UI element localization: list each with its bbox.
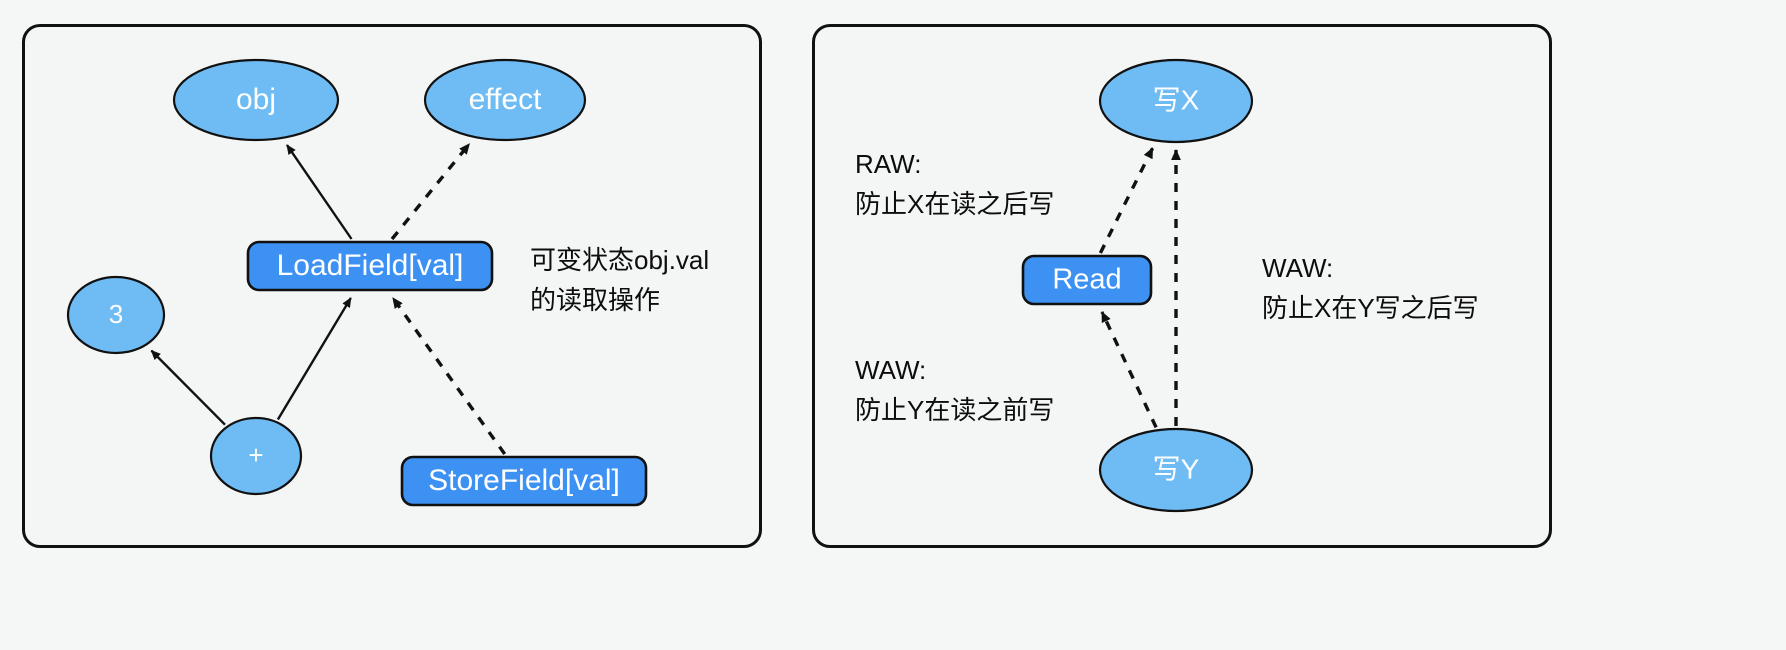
annotation-line: 防止X在Y写之后写: [1262, 288, 1479, 328]
annotation-line: 防止X在读之后写: [855, 184, 1054, 224]
annotation-raw-hazard: RAW:防止X在读之后写: [855, 144, 1054, 224]
node-label-read: Read: [1052, 264, 1121, 296]
node-label-effect: effect: [469, 83, 542, 116]
annotation-line: 可变状态obj.val: [530, 240, 709, 280]
node-label-plus: +: [248, 440, 263, 470]
node-label-storefield: StoreField[val]: [428, 464, 620, 497]
annotation-line: WAW:: [855, 350, 1054, 390]
node-loadfield[interactable]: LoadField[val]: [248, 242, 492, 290]
node-write-y[interactable]: 写Y: [1100, 429, 1252, 511]
node-write-x[interactable]: 写X: [1100, 60, 1252, 142]
diagram-canvas: objeffectLoadField[val]3+StoreField[val]…: [0, 0, 1786, 650]
node-label-obj: obj: [236, 83, 276, 116]
node-label-write-y: 写Y: [1153, 453, 1200, 484]
node-plus[interactable]: +: [211, 418, 301, 494]
node-storefield[interactable]: StoreField[val]: [402, 457, 646, 505]
node-label-loadfield: LoadField[val]: [277, 249, 464, 282]
annotation-line: 防止Y在读之前写: [855, 390, 1054, 430]
annotation-line: WAW:: [1262, 248, 1479, 288]
node-label-write-x: 写X: [1153, 84, 1200, 115]
node-label-three: 3: [109, 299, 123, 329]
annotation-line: 的读取操作: [530, 280, 709, 320]
node-effect[interactable]: effect: [425, 60, 585, 140]
annotation-line: RAW:: [855, 144, 1054, 184]
annotation-waw-after-write: WAW:防止X在Y写之后写: [1262, 248, 1479, 328]
node-read[interactable]: Read: [1023, 256, 1151, 304]
annotation-mutable-state: 可变状态obj.val的读取操作: [530, 240, 709, 320]
node-three[interactable]: 3: [68, 277, 164, 353]
node-obj[interactable]: obj: [174, 60, 338, 140]
annotation-waw-before-read: WAW:防止Y在读之前写: [855, 350, 1054, 430]
